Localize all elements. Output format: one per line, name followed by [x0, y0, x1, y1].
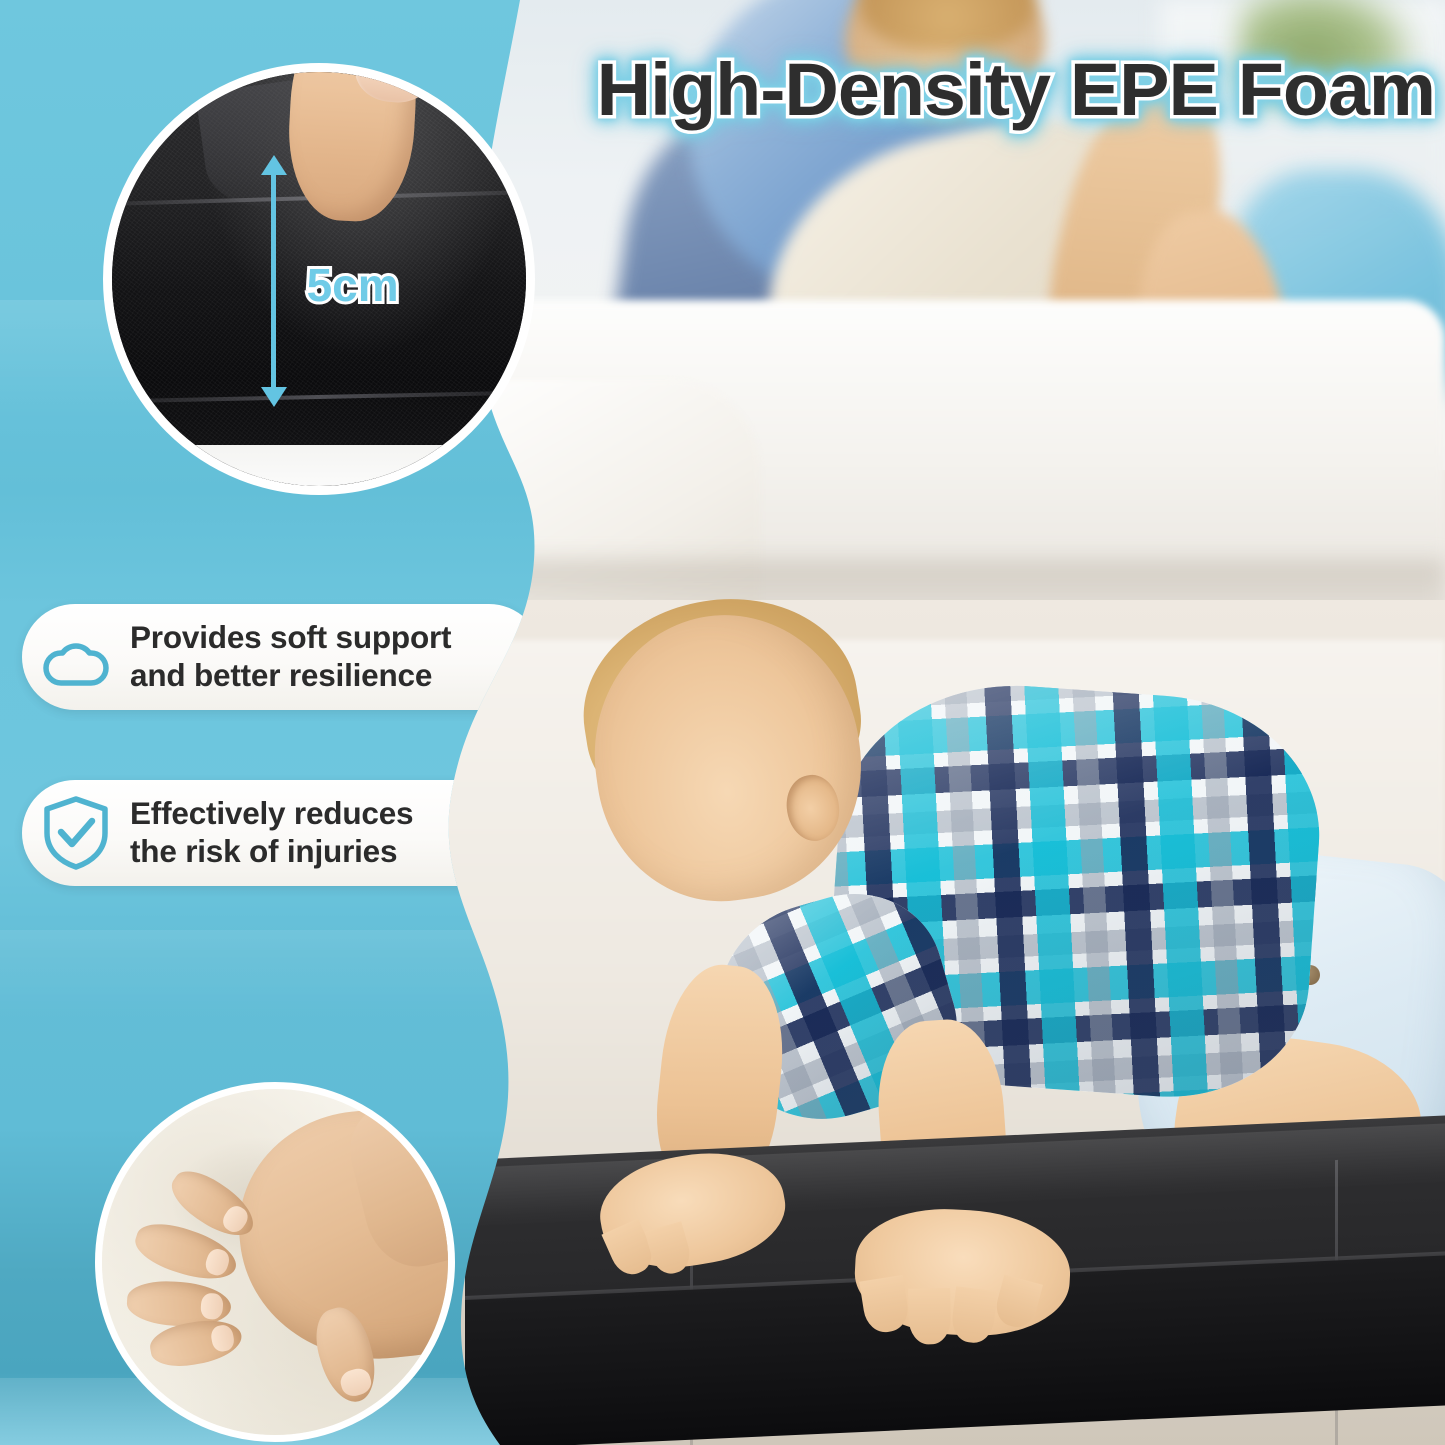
- double-headed-vertical-arrow-icon: [271, 173, 276, 388]
- foam-resilience-inset-circle: [95, 1082, 455, 1442]
- feature-badge-soft-support[interactable]: Provides soft support and better resilie…: [22, 604, 542, 710]
- feature-line-1: Effectively reduces: [130, 795, 413, 833]
- thickness-inset-circle: 5cm: [103, 63, 535, 495]
- feature-line-1: Provides soft support: [130, 619, 451, 657]
- cloud-icon: [22, 626, 130, 688]
- page-title: High-Density EPE Foam: [451, 52, 1435, 129]
- product-marketing-image: High-Density EPE Foam 5cm: [0, 0, 1445, 1445]
- thickness-label: 5cm: [307, 258, 399, 312]
- feature-badge-text: Provides soft support and better resilie…: [130, 619, 451, 695]
- feature-line-2: the risk of injuries: [130, 833, 413, 871]
- feature-badge-text: Effectively reduces the risk of injuries: [130, 795, 413, 871]
- feature-line-2: and better resilience: [130, 657, 451, 695]
- shield-check-icon: [22, 795, 130, 871]
